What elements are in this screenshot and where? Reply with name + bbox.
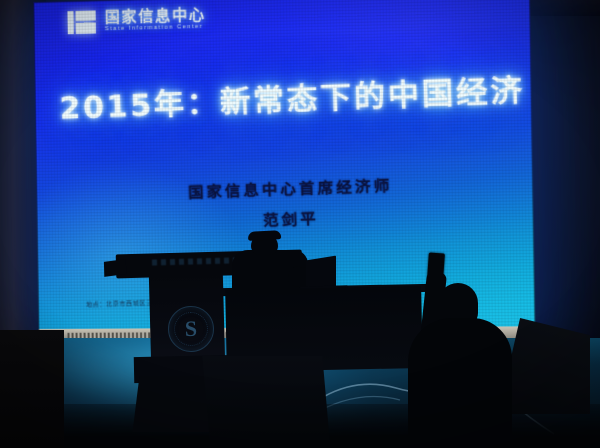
left-speaker-stack <box>0 330 64 448</box>
slide-title: 2015年：新常态下的中国经济 <box>58 65 526 128</box>
slide-subtitle-role: 国家信息中心首席经济师 <box>60 170 527 207</box>
slide-subtitle-block: 国家信息中心首席经济师 范剑平 <box>60 170 528 237</box>
seated-speaker-cap <box>248 230 281 241</box>
podium-emblem-letter: S <box>185 316 198 342</box>
stage-monitor-center <box>202 356 329 440</box>
foreground-person-body <box>408 318 512 448</box>
slide-subtitle-name: 范剑平 <box>61 201 528 237</box>
logo-english-text: State Information Center <box>105 25 206 33</box>
state-information-center-logo-icon <box>67 8 96 36</box>
presentation-photo-scene: 国家信息中心 State Information Center 2015年：新常… <box>0 0 600 448</box>
slide-logo: 国家信息中心 State Information Center <box>67 5 206 36</box>
logo-chinese-text: 国家信息中心 <box>105 8 206 26</box>
